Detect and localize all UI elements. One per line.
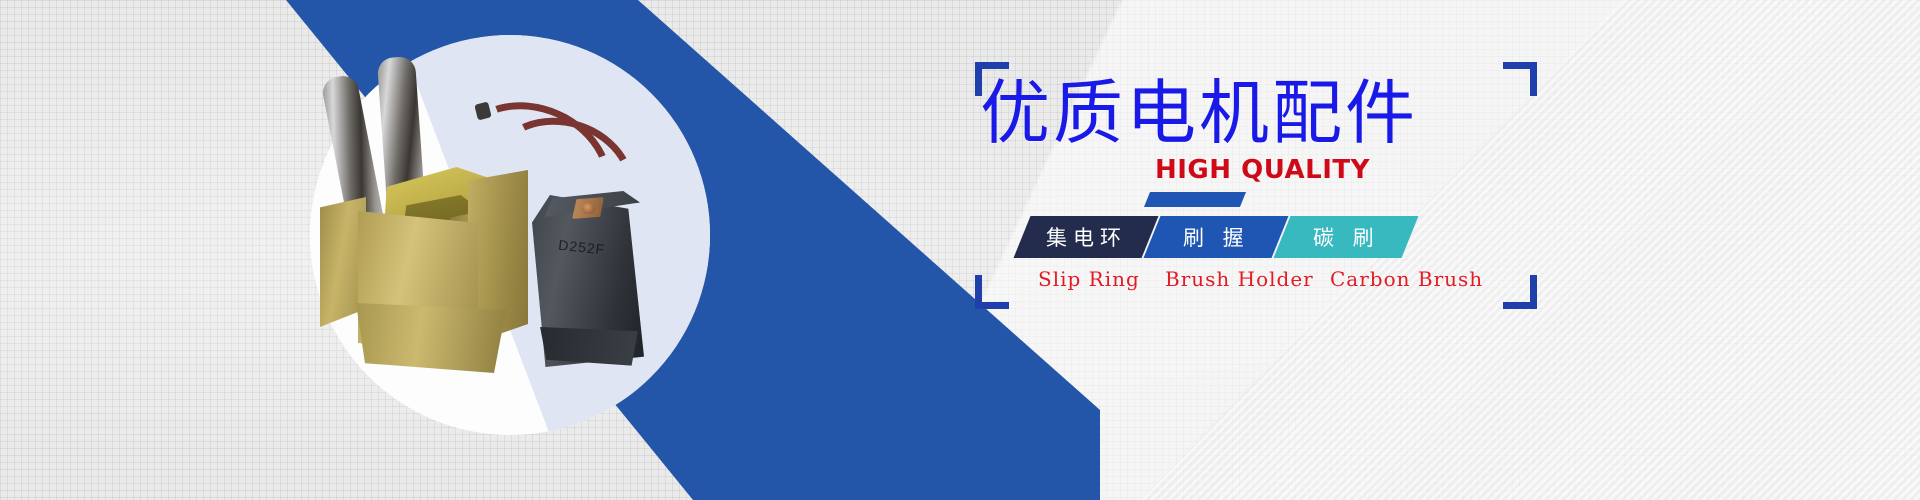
category-label-carbon-brush-en: Carbon Brush [1330, 267, 1483, 291]
category-tab-slip-ring[interactable]: 集电环 [1014, 216, 1159, 258]
category-english-labels: Slip Ring Brush Holder Carbon Brush [1010, 267, 1440, 297]
category-label-slip-ring-en: Slip Ring [1038, 267, 1140, 291]
banner-tagline: HIGH QUALITY [1155, 155, 1370, 185]
corner-bracket-top-right-icon [1503, 62, 1537, 96]
corner-bracket-bottom-right-icon [1503, 275, 1537, 309]
category-tab-brush-holder[interactable]: 刷 握 [1144, 216, 1289, 258]
banner-content: 优质电机配件 HIGH QUALITY 集电环 刷 握 碳 刷 Slip Rin… [0, 0, 1920, 500]
category-label-brush-holder-en: Brush Holder [1165, 267, 1314, 291]
tagline-accent-bar [1144, 192, 1246, 207]
category-tab-carbon-brush-label: 碳 刷 [1313, 222, 1380, 252]
banner-title: 优质电机配件 [980, 78, 1418, 148]
corner-bracket-bottom-left-icon [975, 275, 1009, 309]
category-tab-carbon-brush[interactable]: 碳 刷 [1274, 216, 1419, 258]
category-tab-brush-holder-label: 刷 握 [1183, 222, 1250, 252]
promo-banner: D252F 优质电机配件 HIGH QUALITY 集电环 刷 握 碳 刷 [0, 0, 1920, 500]
category-tab-slip-ring-label: 集电环 [1046, 222, 1127, 252]
